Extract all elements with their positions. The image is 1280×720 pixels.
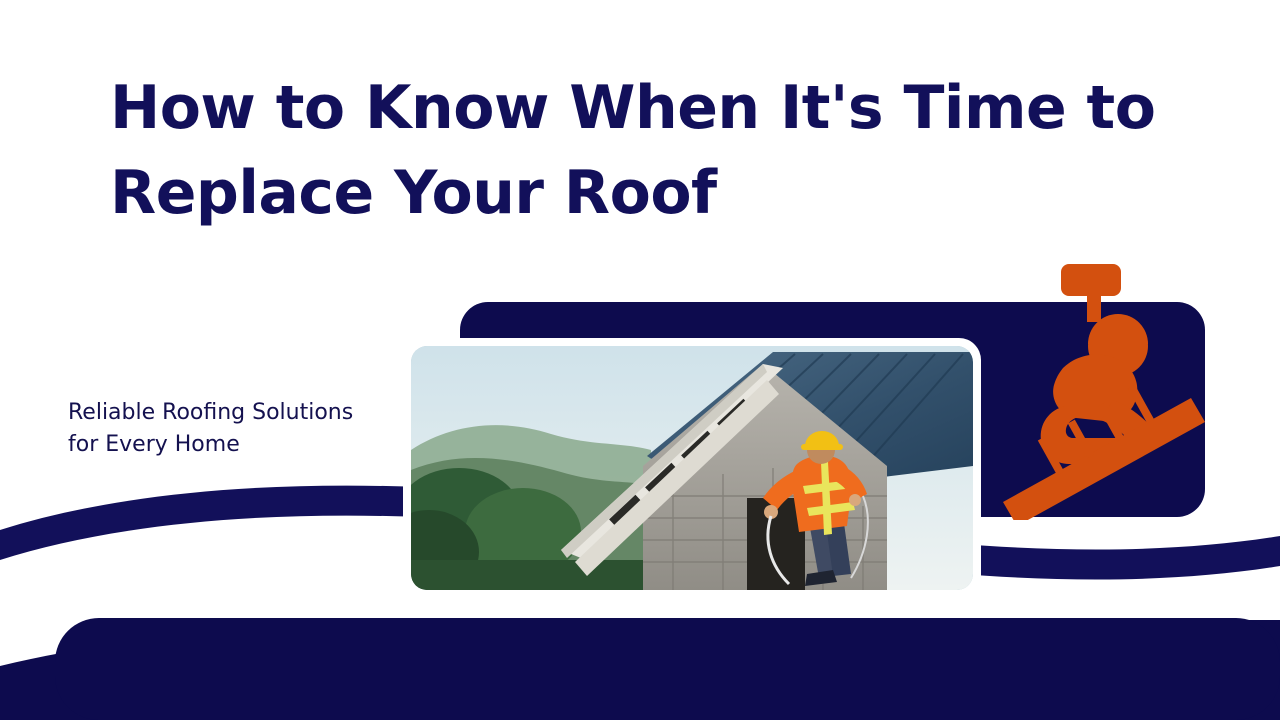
roofer-hammer-icon xyxy=(995,258,1225,520)
slide-canvas: How to Know When It's Time to Replace Yo… xyxy=(0,0,1280,720)
photo-card xyxy=(403,338,981,598)
roofing-photo xyxy=(411,346,973,590)
page-title: How to Know When It's Time to Replace Yo… xyxy=(110,66,1200,236)
subtitle: Reliable Roofing Solutions for Every Hom… xyxy=(68,397,368,460)
